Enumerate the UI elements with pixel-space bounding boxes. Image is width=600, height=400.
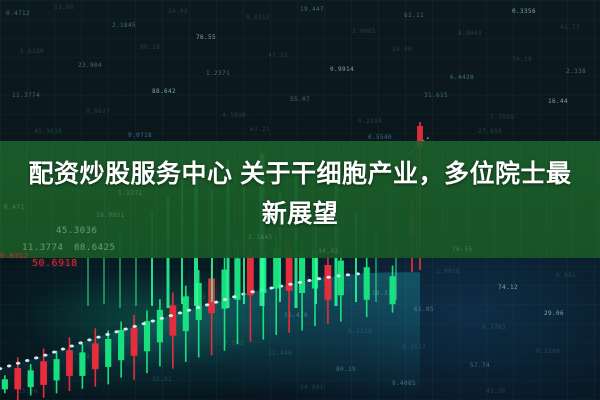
band-number: 2.1845 — [248, 234, 273, 241]
red-ticker-number: 50.6918 — [32, 258, 78, 269]
band-number: 88.6425 — [74, 243, 115, 253]
banner-headline: 配资炒股服务中心 关于干细胞产业，多位院士最 新展望 — [0, 154, 600, 234]
band-number: 34.02 — [318, 248, 339, 255]
red-ticker-number-secondary: 0.8312 — [0, 252, 28, 260]
banner: 0.4712 13.86 2.1845 34.02 76.55 0.8312 1… — [0, 0, 600, 400]
headline-line-1: 配资炒股服务中心 关于干细胞产业，多位院士最 — [18, 154, 582, 194]
band-number: 76.55 — [452, 246, 473, 253]
headline-line-2: 新展望 — [18, 194, 582, 234]
